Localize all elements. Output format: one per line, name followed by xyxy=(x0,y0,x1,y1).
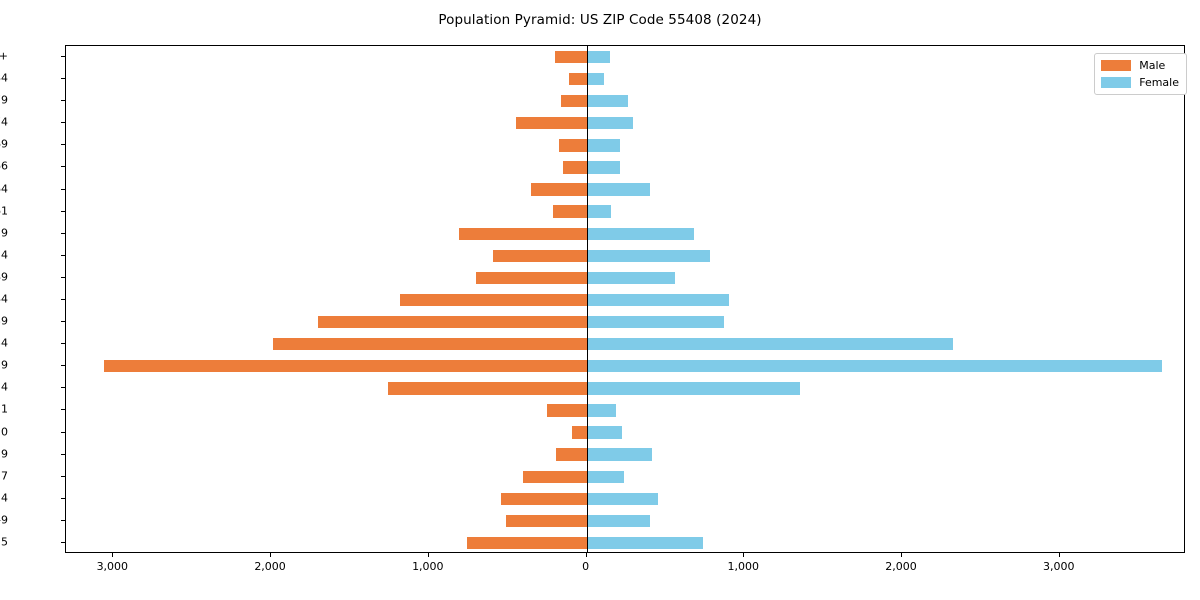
y-tick-label-18-19: 18-19 xyxy=(0,447,8,460)
bar-row xyxy=(66,228,1184,240)
bar-male-55-59 xyxy=(459,228,587,240)
y-tick-mark xyxy=(61,476,65,477)
bar-female-67-69 xyxy=(587,139,620,151)
bar-male-80-84 xyxy=(569,73,586,85)
bar-male-25-29 xyxy=(104,360,587,372)
y-tick-label-under-5: Under 5 xyxy=(0,535,8,548)
bar-female-65-66 xyxy=(587,161,621,173)
zero-axis-line xyxy=(587,46,588,552)
y-tick-label-85: 85+ xyxy=(0,50,8,63)
bar-female-55-59 xyxy=(587,228,694,240)
bar-female-20 xyxy=(587,426,622,438)
x-tick-label-1: 2,000 xyxy=(254,560,286,573)
x-tick-mark xyxy=(270,553,271,557)
y-tick-label-40-44: 40-44 xyxy=(0,293,8,306)
y-tick-mark xyxy=(61,498,65,499)
bar-male-67-69 xyxy=(559,139,587,151)
x-tick-mark xyxy=(112,553,113,557)
bar-male-85 xyxy=(555,51,587,63)
y-tick-mark xyxy=(61,144,65,145)
x-tick-label-2: 1,000 xyxy=(412,560,444,573)
bar-male-70-74 xyxy=(516,117,587,129)
bar-female-45-49 xyxy=(587,272,675,284)
y-tick-mark xyxy=(61,100,65,101)
y-tick-label-5-9: 5-9 xyxy=(0,513,8,526)
y-tick-mark xyxy=(61,432,65,433)
y-tick-mark xyxy=(61,233,65,234)
x-tick-label-0: 3,000 xyxy=(97,560,129,573)
x-tick-label-3: 0 xyxy=(582,560,589,573)
chart-title: Population Pyramid: US ZIP Code 55408 (2… xyxy=(0,12,1200,28)
bar-male-35-39 xyxy=(318,316,586,328)
bar-male-18-19 xyxy=(556,448,587,460)
bar-male-62-64 xyxy=(531,183,586,195)
y-tick-label-62-64: 62-64 xyxy=(0,182,8,195)
bar-row xyxy=(66,493,1184,505)
bar-male-30-34 xyxy=(273,338,587,350)
x-tick-mark xyxy=(586,553,587,557)
bar-row xyxy=(66,95,1184,107)
bar-row xyxy=(66,316,1184,328)
bar-female-18-19 xyxy=(587,448,652,460)
y-tick-mark xyxy=(61,189,65,190)
bar-female-under-5 xyxy=(587,537,704,549)
legend-item-male[interactable]: Male xyxy=(1101,59,1179,72)
x-tick-mark xyxy=(901,553,902,557)
x-tick-label-6: 3,000 xyxy=(1043,560,1075,573)
y-tick-label-65-66: 65-66 xyxy=(0,160,8,173)
x-tick-mark xyxy=(743,553,744,557)
bar-female-85 xyxy=(587,51,611,63)
y-tick-label-15-17: 15-17 xyxy=(0,469,8,482)
y-tick-mark xyxy=(61,166,65,167)
bar-male-5-9 xyxy=(506,515,586,527)
plot-area xyxy=(65,45,1185,553)
bar-male-10-14 xyxy=(501,493,587,505)
bar-row xyxy=(66,161,1184,173)
bar-row xyxy=(66,404,1184,416)
y-tick-label-30-34: 30-34 xyxy=(0,337,8,350)
y-tick-mark xyxy=(61,365,65,366)
bar-row xyxy=(66,360,1184,372)
bar-male-15-17 xyxy=(523,471,586,483)
bar-female-15-17 xyxy=(587,471,625,483)
bar-row xyxy=(66,205,1184,217)
bar-row xyxy=(66,537,1184,549)
bar-female-30-34 xyxy=(587,338,953,350)
y-tick-label-10-14: 10-14 xyxy=(0,491,8,504)
y-tick-mark xyxy=(61,255,65,256)
bar-male-45-49 xyxy=(476,272,586,284)
y-tick-mark xyxy=(61,299,65,300)
bar-female-60-61 xyxy=(587,205,611,217)
y-tick-label-60-61: 60-61 xyxy=(0,204,8,217)
bar-male-65-66 xyxy=(563,161,587,173)
bar-female-40-44 xyxy=(587,294,729,306)
bar-female-50-54 xyxy=(587,250,710,262)
bar-male-75-79 xyxy=(561,95,586,107)
bar-male-50-54 xyxy=(493,250,586,262)
bar-male-60-61 xyxy=(553,205,587,217)
y-tick-mark xyxy=(61,542,65,543)
y-tick-label-67-69: 67-69 xyxy=(0,138,8,151)
bar-male-40-44 xyxy=(400,294,586,306)
y-tick-mark xyxy=(61,387,65,388)
y-tick-label-35-39: 35-39 xyxy=(0,315,8,328)
y-tick-label-50-54: 50-54 xyxy=(0,248,8,261)
y-tick-label-20: 20 xyxy=(0,425,8,438)
bar-row xyxy=(66,272,1184,284)
y-tick-mark xyxy=(61,211,65,212)
legend-label-female: Female xyxy=(1139,76,1179,89)
y-tick-mark xyxy=(61,409,65,410)
bar-row xyxy=(66,471,1184,483)
bar-row xyxy=(66,382,1184,394)
y-tick-mark xyxy=(61,78,65,79)
bar-row xyxy=(66,448,1184,460)
y-tick-mark xyxy=(61,277,65,278)
bar-row xyxy=(66,294,1184,306)
bar-male-21 xyxy=(547,404,586,416)
bar-row xyxy=(66,183,1184,195)
bar-female-62-64 xyxy=(587,183,650,195)
x-tick-mark xyxy=(428,553,429,557)
x-tick-label-4: 1,000 xyxy=(728,560,760,573)
population-pyramid-figure: Population Pyramid: US ZIP Code 55408 (2… xyxy=(0,0,1200,600)
y-tick-mark xyxy=(61,321,65,322)
bar-row xyxy=(66,250,1184,262)
bar-female-22-24 xyxy=(587,382,800,394)
legend-swatch-male xyxy=(1101,60,1131,71)
x-tick-mark xyxy=(1059,553,1060,557)
bar-female-70-74 xyxy=(587,117,634,129)
x-tick-label-5: 2,000 xyxy=(885,560,917,573)
y-tick-mark xyxy=(61,343,65,344)
bar-female-25-29 xyxy=(587,360,1163,372)
bar-male-under-5 xyxy=(467,537,587,549)
bar-row xyxy=(66,117,1184,129)
bar-female-5-9 xyxy=(587,515,650,527)
y-tick-mark xyxy=(61,56,65,57)
bar-male-20 xyxy=(572,426,586,438)
bar-male-22-24 xyxy=(388,382,587,394)
bar-female-80-84 xyxy=(587,73,604,85)
legend-item-female[interactable]: Female xyxy=(1101,76,1179,89)
legend-swatch-female xyxy=(1101,77,1131,88)
bar-female-35-39 xyxy=(587,316,724,328)
bar-row xyxy=(66,139,1184,151)
y-tick-label-75-79: 75-79 xyxy=(0,94,8,107)
y-tick-label-55-59: 55-59 xyxy=(0,226,8,239)
y-tick-label-25-29: 25-29 xyxy=(0,359,8,372)
y-tick-mark xyxy=(61,454,65,455)
bar-row xyxy=(66,338,1184,350)
y-tick-label-21: 21 xyxy=(0,403,8,416)
chart-legend: MaleFemale xyxy=(1094,53,1187,95)
bar-female-10-14 xyxy=(587,493,658,505)
legend-label-male: Male xyxy=(1139,59,1165,72)
bar-row xyxy=(66,426,1184,438)
y-tick-mark xyxy=(61,520,65,521)
y-tick-label-22-24: 22-24 xyxy=(0,381,8,394)
bar-row xyxy=(66,73,1184,85)
y-tick-label-80-84: 80-84 xyxy=(0,72,8,85)
y-tick-mark xyxy=(61,122,65,123)
bar-female-21 xyxy=(587,404,616,416)
y-tick-label-70-74: 70-74 xyxy=(0,116,8,129)
bar-row xyxy=(66,51,1184,63)
bar-row xyxy=(66,515,1184,527)
bars-layer xyxy=(66,46,1184,552)
bar-female-75-79 xyxy=(587,95,628,107)
y-tick-label-45-49: 45-49 xyxy=(0,270,8,283)
